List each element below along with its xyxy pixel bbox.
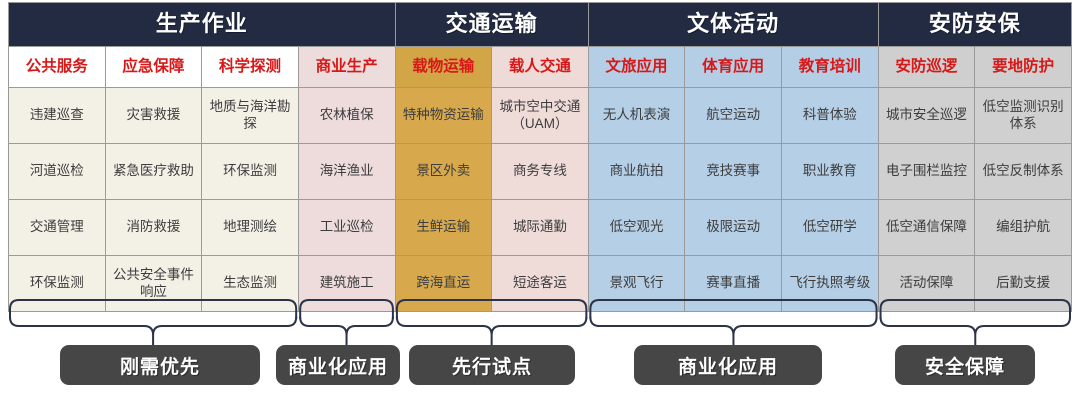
table-cell: 环保监测 [202, 144, 299, 200]
table-cell: 生鲜运输 [395, 200, 492, 256]
table-cell: 特种物资运输 [395, 88, 492, 144]
bracket-brace-3 [397, 317, 586, 345]
table-cell: 无人机表演 [588, 88, 685, 144]
table-row: 交通管理消防救援地理测绘工业巡检生鲜运输城际通勤低空观光极限运动低空研学低空通信… [9, 200, 1072, 256]
table-cell: 景区外卖 [395, 144, 492, 200]
table-cell: 紧急医疗救助 [105, 144, 202, 200]
column-header-2: 应急保障 [105, 47, 202, 88]
column-header-11: 要地防护 [975, 47, 1072, 88]
table-cell: 城市空中交通（UAM） [492, 88, 589, 144]
group-header-cell: 交通运输 [395, 3, 588, 47]
bracket-label-pill-4[interactable]: 商业化应用 [634, 345, 822, 385]
column-header-5: 载物运输 [395, 47, 492, 88]
group-header-cell: 安防安保 [878, 3, 1071, 47]
table-cell: 低空观光 [588, 200, 685, 256]
group-header-cell: 生产作业 [9, 3, 396, 47]
table-cell: 商业航拍 [588, 144, 685, 200]
column-header-8: 体育应用 [685, 47, 782, 88]
table-cell: 竞技赛事 [685, 144, 782, 200]
table-cell: 交通管理 [9, 200, 106, 256]
table-cell: 城际通勤 [492, 200, 589, 256]
table-cell: 职业教育 [782, 144, 879, 200]
table-cell: 科普体验 [782, 88, 879, 144]
column-header-row: 公共服务应急保障科学探测商业生产载物运输载人交通文旅应用体育应用教育培训安防巡逻… [9, 47, 1072, 88]
bracket-brace-2 [300, 317, 393, 345]
table-cell: 景观飞行 [588, 256, 685, 312]
table-cell: 活动保障 [878, 256, 975, 312]
bracket-label-row: 刚需优先商业化应用先行试点商业化应用安全保障 [0, 345, 1080, 393]
bracket-brace-1 [10, 317, 296, 345]
column-header-3: 科学探测 [202, 47, 299, 88]
table-cell: 编组护航 [975, 200, 1072, 256]
group-header-cell: 文体活动 [588, 3, 878, 47]
column-header-10: 安防巡逻 [878, 47, 975, 88]
table-cell: 短途客运 [492, 256, 589, 312]
table-cell: 电子围栏监控 [878, 144, 975, 200]
column-header-7: 文旅应用 [588, 47, 685, 88]
table-cell: 公共安全事件响应 [105, 256, 202, 312]
table-cell: 低空通信保障 [878, 200, 975, 256]
table-cell: 农林植保 [298, 88, 395, 144]
table-cell: 海洋渔业 [298, 144, 395, 200]
table-cell: 跨海直运 [395, 256, 492, 312]
table-cell: 地理测绘 [202, 200, 299, 256]
table-cell: 飞行执照考级 [782, 256, 879, 312]
table-cell: 低空反制体系 [975, 144, 1072, 200]
group-header-row: 生产作业交通运输文体活动安防安保 [9, 3, 1072, 47]
bracket-label-pill-1[interactable]: 刚需优先 [60, 345, 260, 385]
table-cell: 商务专线 [492, 144, 589, 200]
table-cell: 低空研学 [782, 200, 879, 256]
table-cell: 地质与海洋勘探 [202, 88, 299, 144]
table-cell: 赛事直播 [685, 256, 782, 312]
table-cell: 低空监测识别体系 [975, 88, 1072, 144]
table-cell: 航空运动 [685, 88, 782, 144]
column-header-9: 教育培训 [782, 47, 879, 88]
bracket-label-pill-3[interactable]: 先行试点 [409, 345, 575, 385]
table-cell: 灾害救援 [105, 88, 202, 144]
table-cell: 极限运动 [685, 200, 782, 256]
table-cell: 工业巡检 [298, 200, 395, 256]
table-row: 环保监测公共安全事件响应生态监测建筑施工跨海直运短途客运景观飞行赛事直播飞行执照… [9, 256, 1072, 312]
capability-matrix-table: 生产作业交通运输文体活动安防安保公共服务应急保障科学探测商业生产载物运输载人交通… [8, 2, 1072, 312]
table-cell: 建筑施工 [298, 256, 395, 312]
column-header-6: 载人交通 [492, 47, 589, 88]
bracket-brace-5 [881, 317, 1070, 345]
table-cell: 违建巡查 [9, 88, 106, 144]
bracket-label-pill-2[interactable]: 商业化应用 [276, 345, 400, 385]
table-cell: 消防救援 [105, 200, 202, 256]
table-cell: 城市安全巡逻 [878, 88, 975, 144]
table-cell: 河道巡检 [9, 144, 106, 200]
column-header-4: 商业生产 [298, 47, 395, 88]
table-cell: 后勤支援 [975, 256, 1072, 312]
column-header-1: 公共服务 [9, 47, 106, 88]
table-row: 河道巡检紧急医疗救助环保监测海洋渔业景区外卖商务专线商业航拍竞技赛事职业教育电子… [9, 144, 1072, 200]
bracket-brace-4 [590, 317, 876, 345]
table-row: 违建巡查灾害救援地质与海洋勘探农林植保特种物资运输城市空中交通（UAM）无人机表… [9, 88, 1072, 144]
bracket-label-pill-5[interactable]: 安全保障 [895, 345, 1035, 385]
table-cell: 生态监测 [202, 256, 299, 312]
table-cell: 环保监测 [9, 256, 106, 312]
